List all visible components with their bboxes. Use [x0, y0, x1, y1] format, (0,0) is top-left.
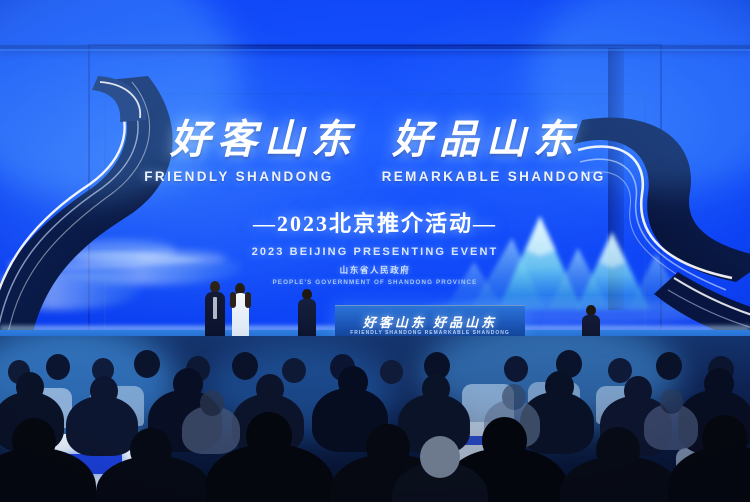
- audience-head: [134, 350, 160, 378]
- main-title-cn-left: 好客山东: [170, 118, 358, 161]
- audience-head: [380, 360, 403, 384]
- audience-head: [282, 358, 306, 383]
- event-line-en: 2023 BEIJING PRESENTING EVENT: [0, 246, 750, 258]
- organizer-en: PEOPLE'S GOVERNMENT OF SHANDONG PROVINCE: [0, 279, 750, 286]
- audience-person: [66, 396, 138, 456]
- audience-head: [504, 356, 528, 382]
- main-title-cn: 好客山东 好品山东: [0, 118, 750, 161]
- audience-head: [46, 354, 70, 380]
- led-top-seam-highlight: [0, 49, 750, 51]
- audience-person: [182, 406, 240, 454]
- audience-head: [232, 352, 258, 380]
- main-title-cn-right: 好品山东: [392, 118, 580, 161]
- organizer-block: 山东省人民政府 PEOPLE'S GOVERNMENT OF SHANDONG …: [0, 264, 750, 286]
- main-title-en-left: FRIENDLY SHANDONG: [144, 169, 333, 184]
- organizer-cn: 山东省人民政府: [0, 264, 750, 276]
- audience-area: [0, 336, 750, 502]
- backdrop-title-block: 好客山东 好品山东 FRIENDLY SHANDONG REMARKABLE S…: [0, 118, 750, 258]
- podium-banner-cn: 好客山东 好品山东: [335, 312, 525, 331]
- event-photo: 好客山东 好品山东 FRIENDLY SHANDONG REMARKABLE S…: [0, 0, 750, 502]
- main-title-en: FRIENDLY SHANDONG REMARKABLE SHANDONG: [0, 169, 750, 184]
- audience-person: [644, 404, 698, 450]
- event-line-cn: —2023北京推介活动—: [0, 206, 750, 238]
- audience-head: [656, 352, 682, 380]
- main-title-en-right: REMARKABLE SHANDONG: [382, 169, 606, 184]
